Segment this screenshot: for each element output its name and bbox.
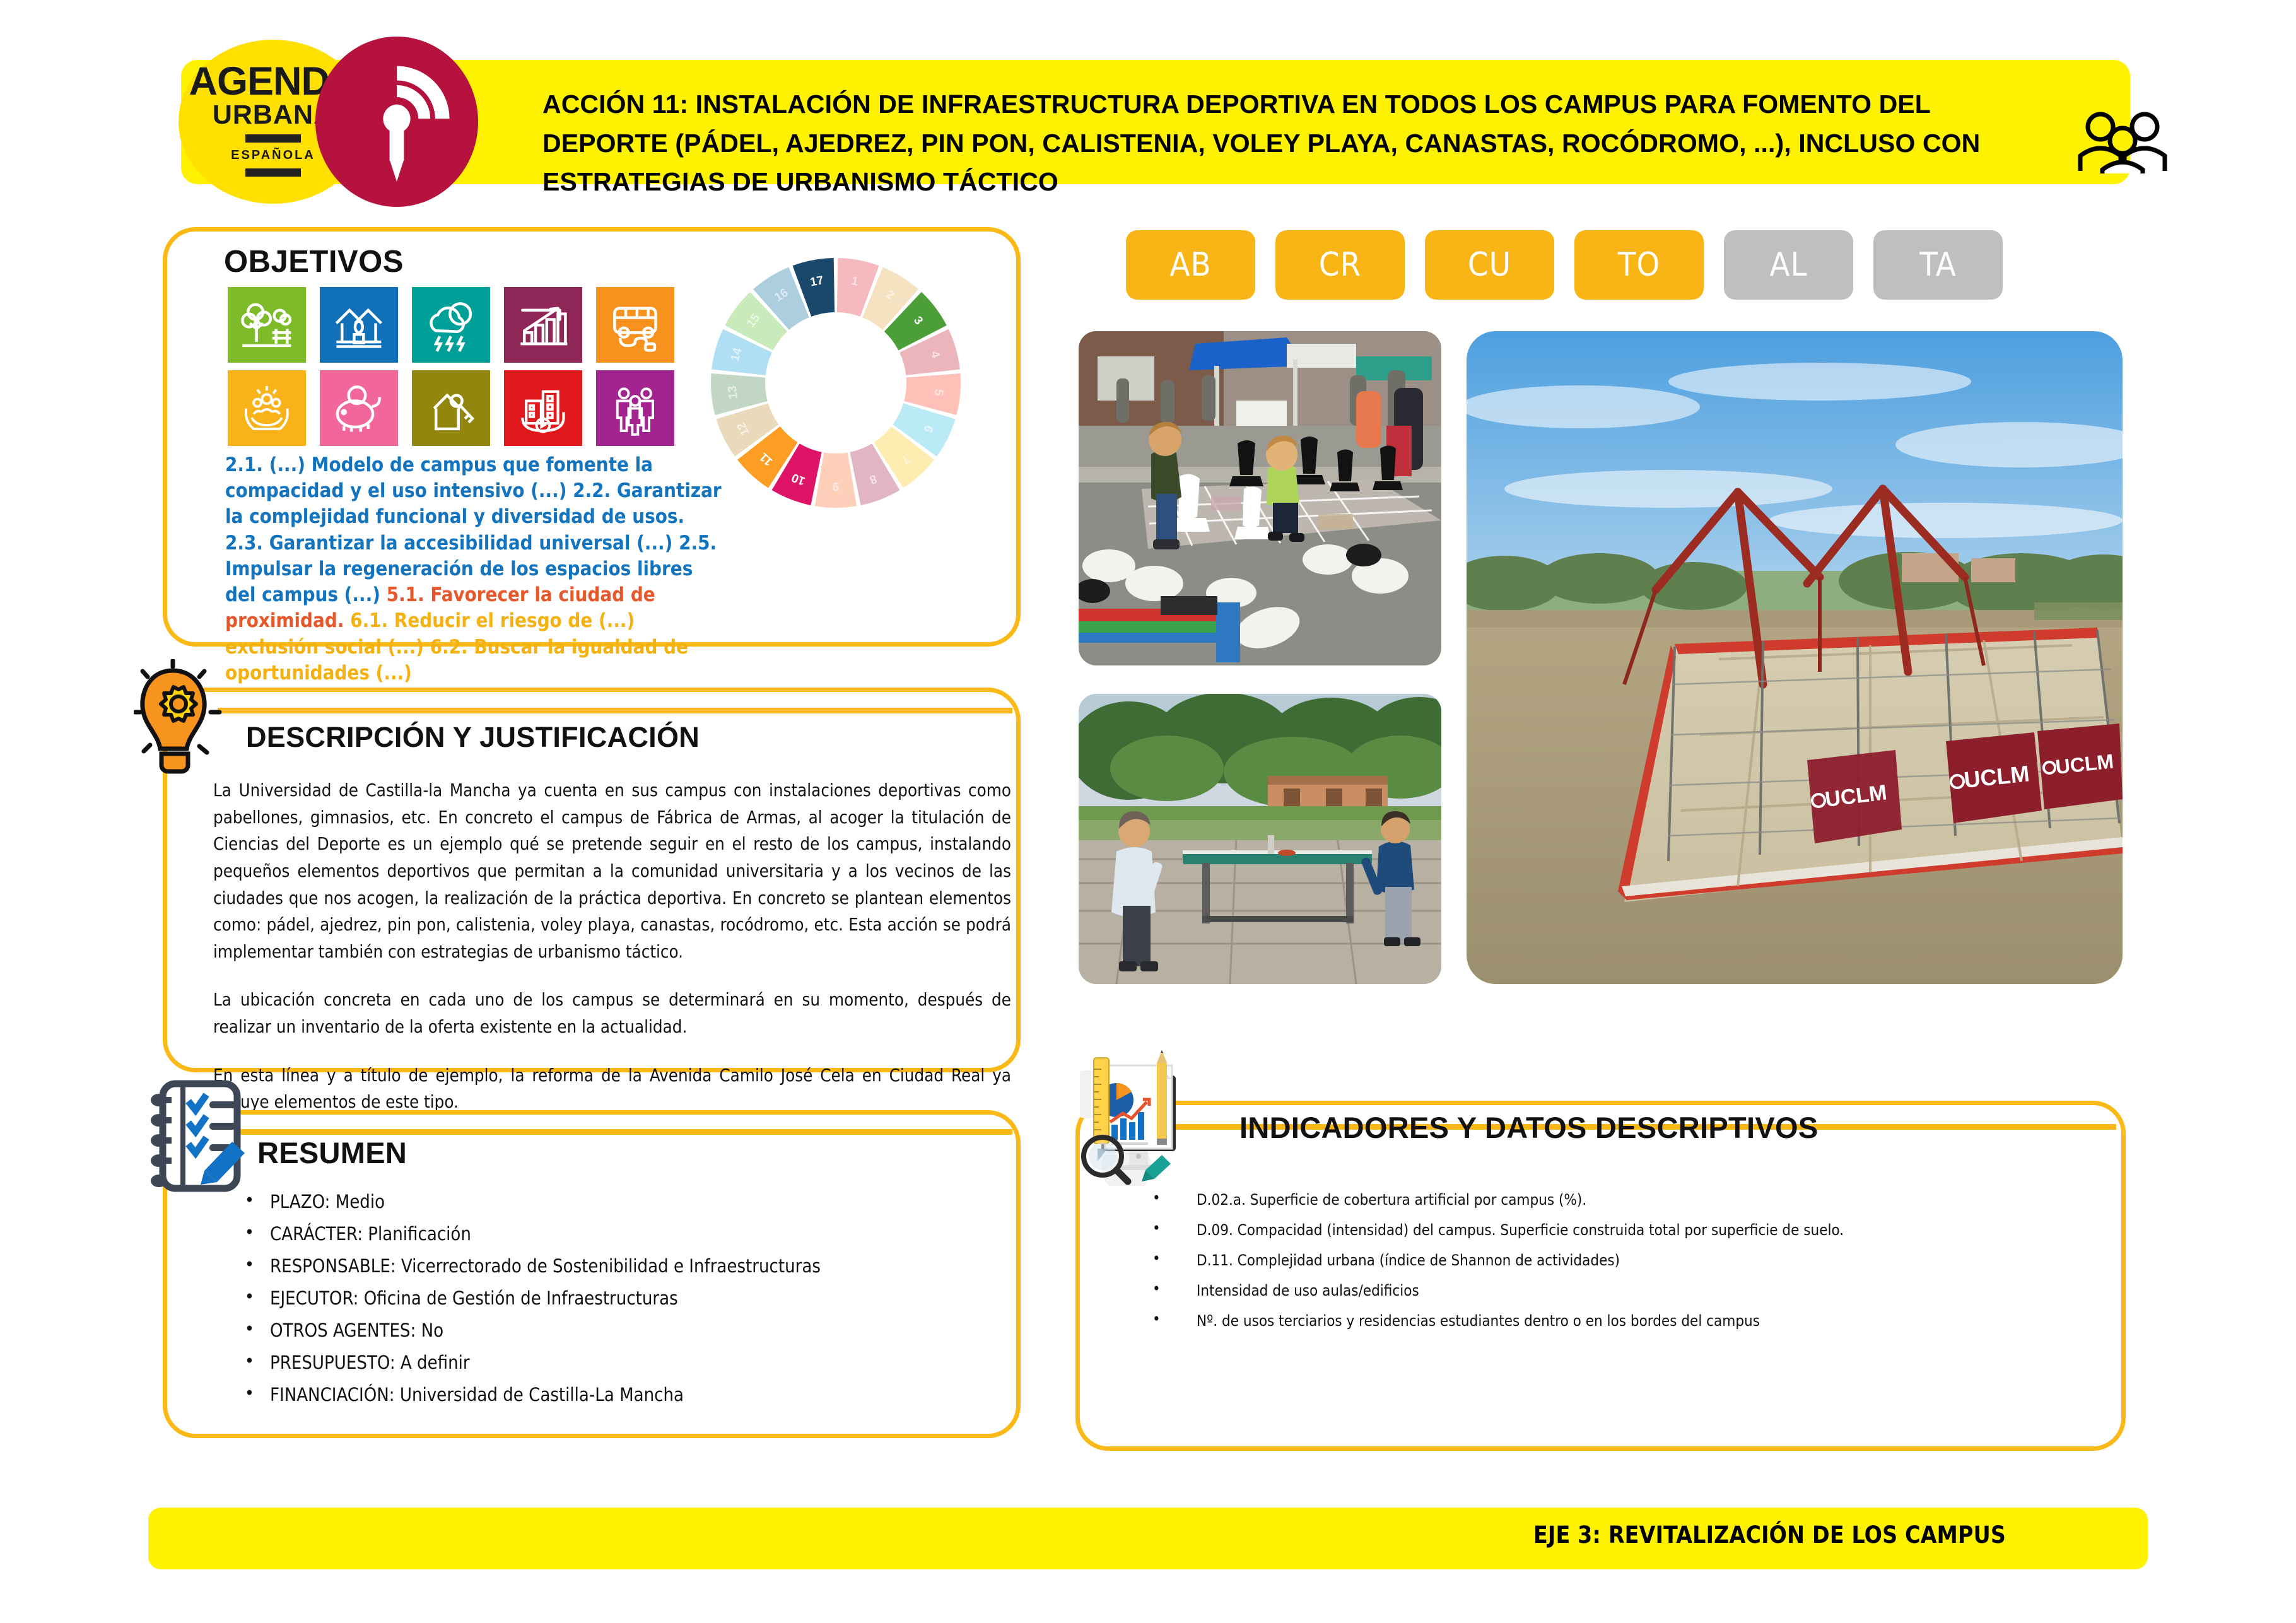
lightbulb-gear-icon bbox=[134, 659, 228, 779]
hands-people-icon bbox=[228, 370, 306, 446]
sdg-wheel-icon: 1234567891011121314151617 bbox=[703, 250, 968, 515]
campus-tag-ta-label: TA bbox=[1919, 246, 1957, 284]
logo-divider-top bbox=[245, 134, 301, 143]
objetivos-card: OBJETIVOS bbox=[163, 227, 1021, 647]
people-group-icon bbox=[2075, 110, 2170, 173]
campus-tag-ab-label: AB bbox=[1169, 246, 1211, 284]
objetivos-icon-grid bbox=[228, 287, 674, 446]
descripcion-paragraph-1: La Universidad de Castilla-la Mancha ya … bbox=[213, 777, 1011, 965]
campus-tag-ta[interactable]: TA bbox=[1873, 230, 2003, 300]
resumen-list: PLAZO: Medio CARÁCTER: Planificación RES… bbox=[233, 1186, 990, 1411]
campus-tag-to-label: TO bbox=[1618, 246, 1660, 284]
list-item: D.02.a. Superficie de cobertura artifici… bbox=[1139, 1185, 2097, 1215]
list-item: Nº. de usos terciarios y residencias est… bbox=[1139, 1306, 2097, 1336]
resumen-title: RESUMEN bbox=[257, 1135, 407, 1170]
campus-tag-cu-label: CU bbox=[1468, 246, 1511, 284]
list-item: Intensidad de uso aulas/edificios bbox=[1139, 1275, 2097, 1306]
list-item: OTROS AGENTES: No bbox=[233, 1315, 990, 1347]
list-item: EJECUTOR: Oficina de Gestión de Infraest… bbox=[233, 1282, 990, 1315]
resumen-rule bbox=[224, 1129, 1012, 1135]
page-title: ACCIÓN 11: INSTALACIÓN DE INFRAESTRUCTUR… bbox=[542, 85, 2056, 202]
trees-park-icon bbox=[228, 287, 306, 363]
logo-divider-bottom bbox=[245, 168, 301, 177]
group-people-icon bbox=[596, 370, 674, 446]
descripcion-body: La Universidad de Castilla-la Mancha ya … bbox=[213, 777, 1011, 1137]
objetivos-title: OBJETIVOS bbox=[224, 244, 404, 279]
list-item: RESPONSABLE: Vicerrectorado de Sostenibi… bbox=[233, 1250, 990, 1282]
campus-tag-ab[interactable]: AB bbox=[1126, 230, 1255, 300]
storm-cloud-icon bbox=[412, 287, 490, 363]
descripcion-title: DESCRIPCIÓN Y JUSTIFICACIÓN bbox=[246, 721, 700, 754]
uclm-signal-roundel-icon bbox=[315, 37, 478, 207]
electric-bus-icon bbox=[596, 287, 674, 363]
buildings-media-icon bbox=[504, 370, 582, 446]
campus-tag-cr-label: CR bbox=[1319, 246, 1361, 284]
descripcion-paragraph-2: La ubicación concreta en cada uno de los… bbox=[213, 987, 1011, 1040]
list-item: PRESUPUESTO: A definir bbox=[233, 1347, 990, 1379]
objetivos-text: 2.1. (...) Modelo de campus que fomente … bbox=[225, 452, 723, 686]
sdg-segment-number-9: 9 bbox=[833, 479, 840, 493]
photo-outdoor-table-tennis bbox=[1079, 694, 1441, 984]
list-item: D.09. Compacidad (intensidad) del campus… bbox=[1139, 1215, 2097, 1245]
campus-tag-al[interactable]: AL bbox=[1724, 230, 1853, 300]
clipboard-checklist-pencil-icon bbox=[144, 1076, 252, 1196]
piggy-bank-icon bbox=[320, 370, 398, 446]
photo-giant-outdoor-chess bbox=[1079, 331, 1441, 665]
campus-tag-cu[interactable]: CU bbox=[1425, 230, 1554, 300]
list-item: D.11. Complejidad urbana (índice de Shan… bbox=[1139, 1245, 2097, 1275]
campus-tag-cr[interactable]: CR bbox=[1275, 230, 1405, 300]
indicadores-list: D.02.a. Superficie de cobertura artifici… bbox=[1139, 1185, 2097, 1336]
campus-tag-to[interactable]: TO bbox=[1574, 230, 1704, 300]
logo-line-espanola: ESPAÑOLA bbox=[231, 148, 315, 163]
list-item: PLAZO: Medio bbox=[233, 1186, 990, 1218]
houses-urban-icon bbox=[320, 287, 398, 363]
campus-tag-al-label: AL bbox=[1769, 246, 1807, 284]
descripcion-paragraph-3: En esta línea y a título de ejemplo, la … bbox=[213, 1062, 1011, 1116]
sdg-segment-number-13: 13 bbox=[726, 385, 741, 400]
house-keys-icon bbox=[412, 370, 490, 446]
campus-tag-list: AB CR CU TO AL TA bbox=[1126, 230, 2003, 300]
photo-beach-volley-court-uclm: UCLM UCLM UCLM bbox=[1467, 331, 2123, 984]
indicadores-title: INDICADORES Y DATOS DESCRIPTIVOS bbox=[1239, 1110, 1819, 1145]
footer-eje-label: EJE 3: REVITALIZACIÓN DE LOS CAMPUS bbox=[1533, 1521, 2006, 1549]
list-item: CARÁCTER: Planificación bbox=[233, 1218, 990, 1250]
growth-chart-icon bbox=[504, 287, 582, 363]
monitor-chart-ruler-pencil-icon bbox=[1080, 1044, 1222, 1186]
list-item: FINANCIACIÓN: Universidad de Castilla-La… bbox=[233, 1379, 990, 1411]
sdg-segment-number-17: 17 bbox=[809, 274, 825, 290]
descripcion-rule bbox=[218, 708, 1012, 713]
